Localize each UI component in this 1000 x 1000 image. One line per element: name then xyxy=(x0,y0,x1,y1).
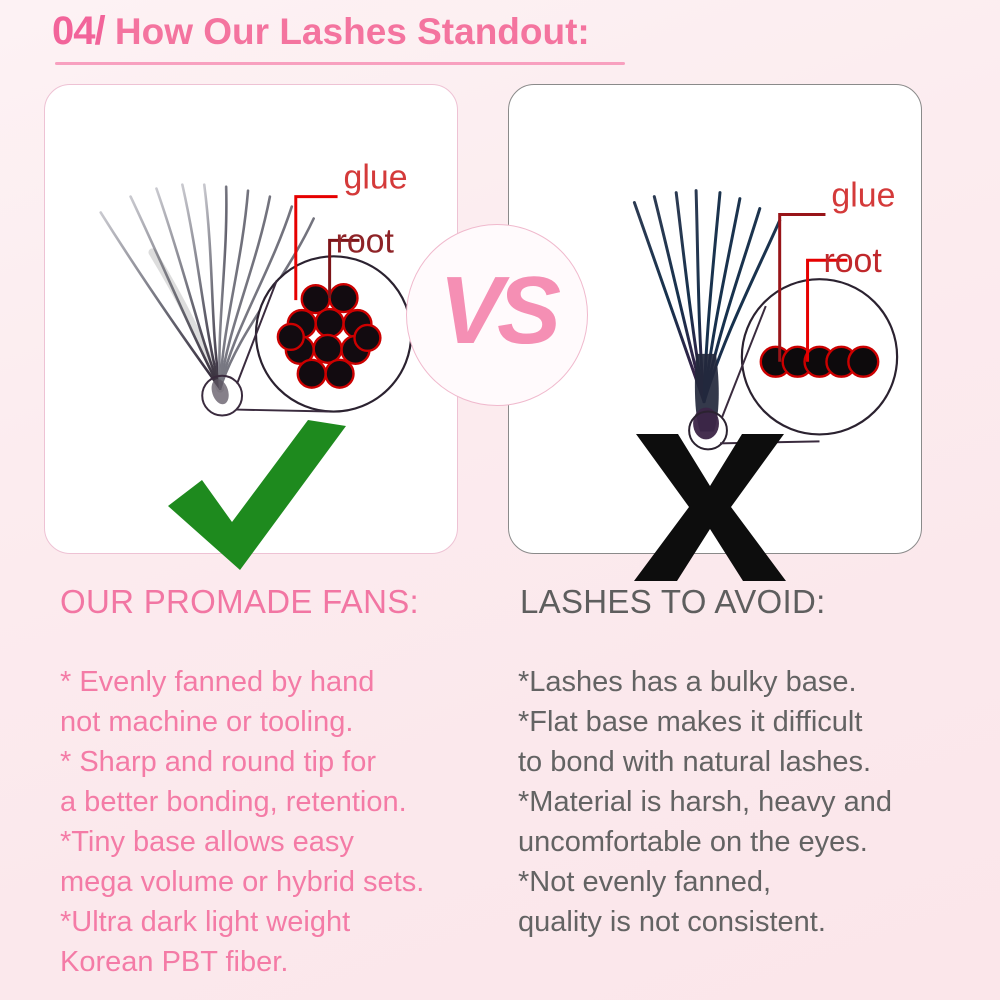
left-column-heading: OUR PROMADE FANS: xyxy=(60,583,419,621)
callout-root-label: root xyxy=(823,242,882,280)
section-number: 04/ xyxy=(52,9,105,53)
list-item: Korean PBT fiber. xyxy=(60,942,490,982)
list-item: mega volume or hybrid sets. xyxy=(60,862,490,902)
list-item: *Material is harsh, heavy and xyxy=(518,782,968,822)
list-item: *Flat base makes it difficult xyxy=(518,702,968,742)
close-icon xyxy=(630,430,790,585)
right-column-body: *Lashes has a bulky base. *Flat base mak… xyxy=(518,662,968,942)
list-item: *Ultra dark light weight xyxy=(60,902,490,942)
list-item: quality is not consistent. xyxy=(518,902,968,942)
callout-root-label: root xyxy=(336,222,395,260)
callout-glue-label: glue xyxy=(831,177,895,215)
list-item: * Sharp and round tip for xyxy=(60,742,490,782)
page-title: 04/ How Our Lashes Standout: xyxy=(52,8,812,68)
check-icon xyxy=(160,418,350,578)
left-column-body: * Evenly fanned by hand not machine or t… xyxy=(60,662,490,982)
poster-canvas: 04/ How Our Lashes Standout: xyxy=(0,0,1000,1000)
list-item: *Lashes has a bulky base. xyxy=(518,662,968,702)
callout-glue-label: glue xyxy=(344,159,408,197)
section-title: How Our Lashes Standout: xyxy=(115,11,590,52)
list-item: *Tiny base allows easy xyxy=(60,822,490,862)
list-item: * Evenly fanned by hand xyxy=(60,662,490,702)
versus-badge: VS xyxy=(406,224,588,406)
list-item: a better bonding, retention. xyxy=(60,782,490,822)
right-column-heading: LASHES TO AVOID: xyxy=(520,583,826,621)
title-underline xyxy=(55,62,625,65)
list-item: to bond with natural lashes. xyxy=(518,742,968,782)
list-item: not machine or tooling. xyxy=(60,702,490,742)
list-item: *Not evenly fanned, xyxy=(518,862,968,902)
list-item: uncomfortable on the eyes. xyxy=(518,822,968,862)
versus-label: VS xyxy=(439,263,555,359)
